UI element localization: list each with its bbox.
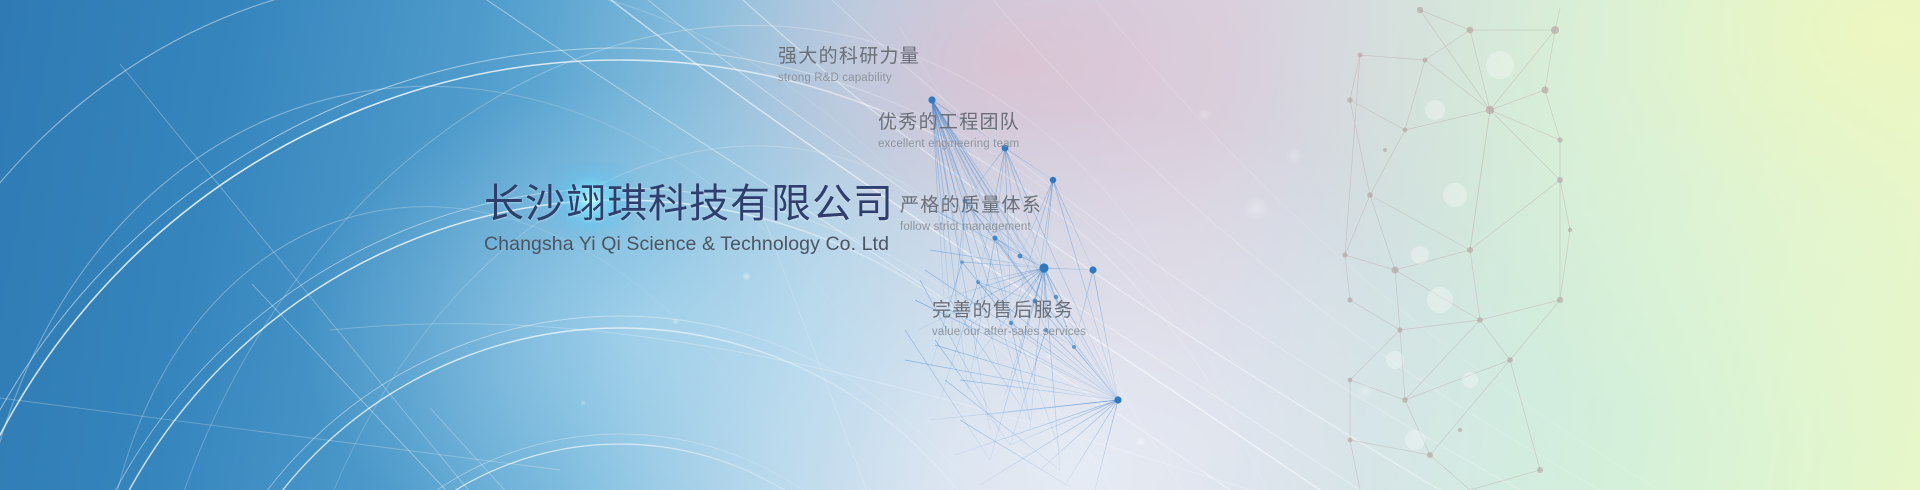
- background-yellow-corner: [0, 0, 1920, 490]
- company-banner: 长沙翊琪科技有限公司 Changsha Yi Qi Science & Tech…: [0, 0, 1920, 490]
